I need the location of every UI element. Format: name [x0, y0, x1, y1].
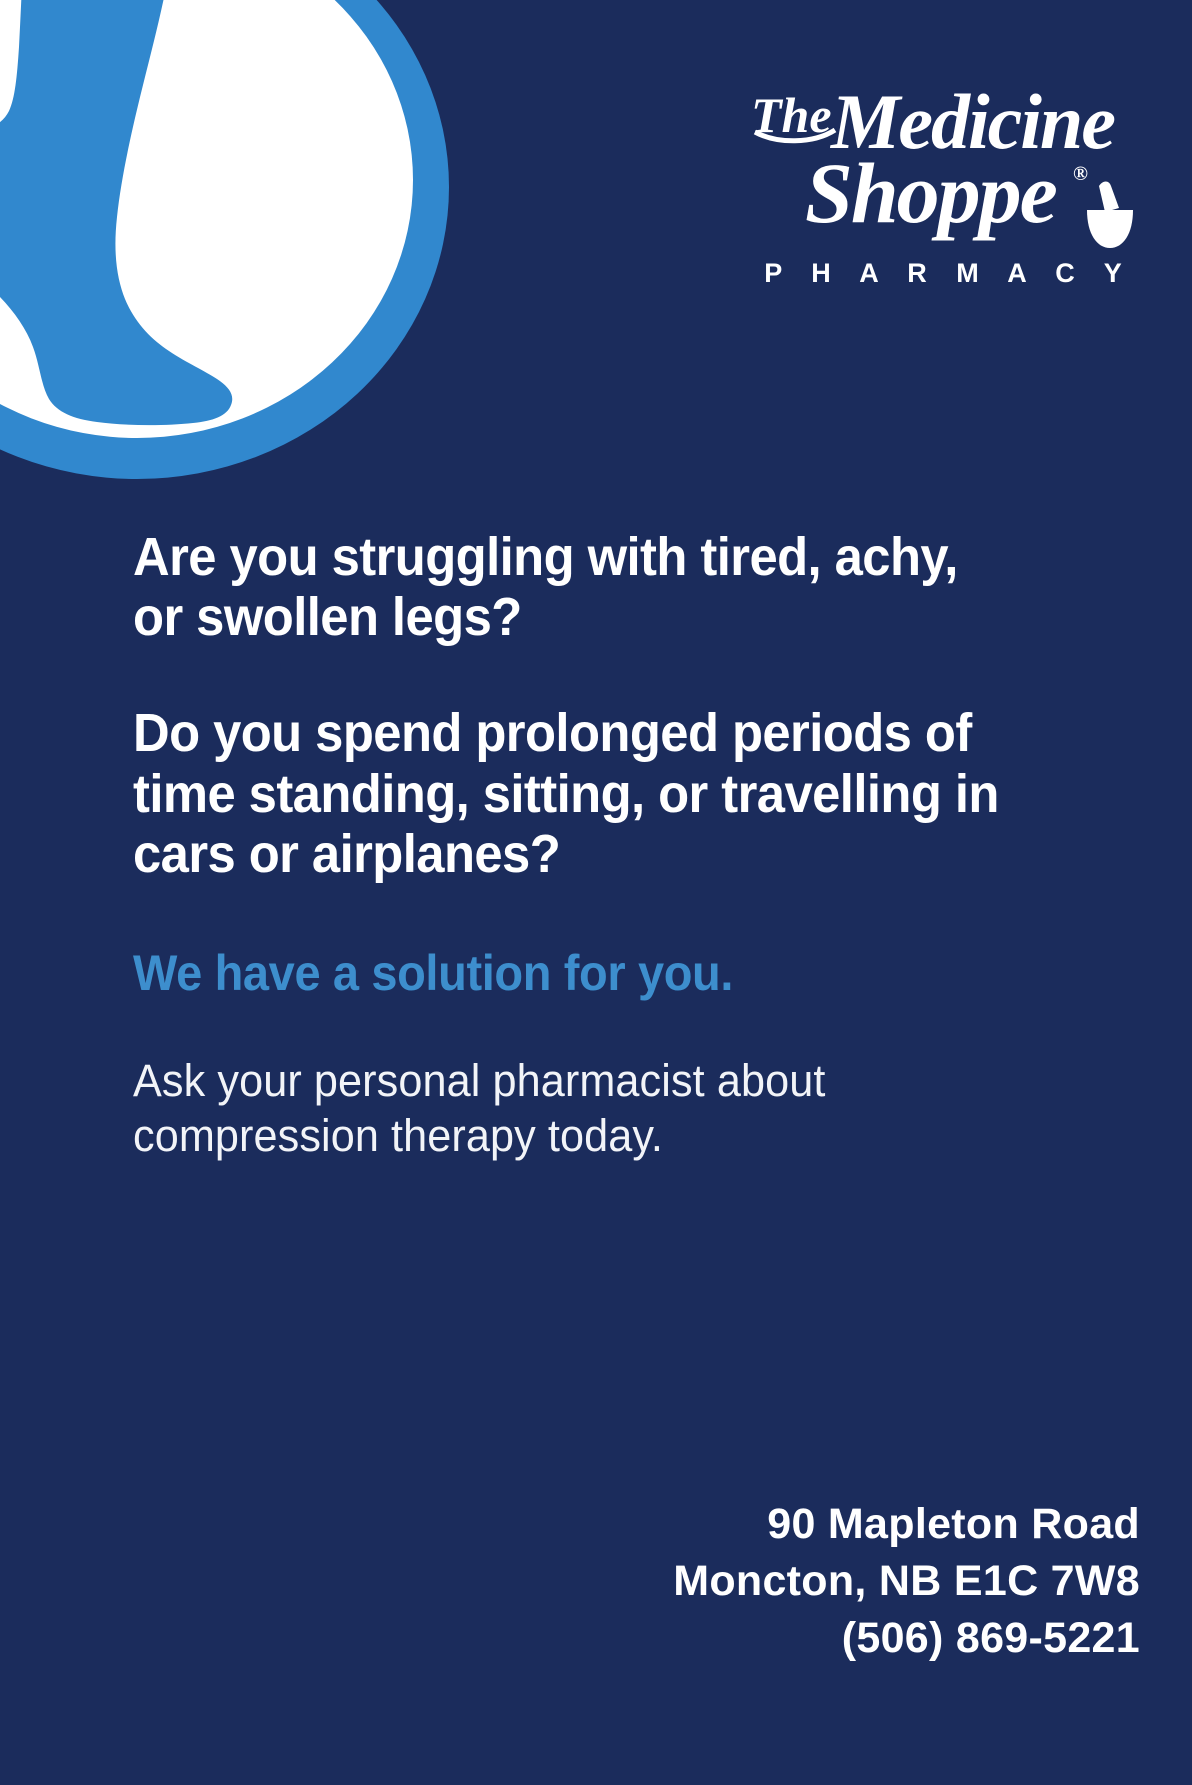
registered-mark-icon: ®: [1073, 163, 1088, 185]
logo-shoppe-word: Shoppe: [805, 145, 1057, 241]
address-city-province-postal: Moncton, NB E1C 7W8: [380, 1553, 1140, 1610]
copy-block: Are you struggling with tired, achy, or …: [133, 527, 1063, 1164]
poster-root: The Medicine Shoppe ® P H A R M A C Y: [0, 0, 1192, 1785]
headline-question-one: Are you struggling with tired, achy, or …: [133, 527, 1007, 647]
headline-question-two: Do you spend prolonged periods of time s…: [133, 703, 1007, 884]
address-block: 90 Mapleton Road Moncton, NB E1C 7W8 (50…: [380, 1496, 1140, 1668]
solution-line: We have a solution for you.: [133, 946, 1007, 1001]
address-phone[interactable]: (506) 869-5221: [380, 1610, 1140, 1667]
logo-pharmacy-word: P H A R M A C Y: [747, 260, 1139, 287]
subcopy-line: Ask your personal pharmacist about compr…: [133, 1053, 1026, 1164]
leg-circle-graphic: [0, 0, 450, 480]
medicine-shoppe-logo: The Medicine Shoppe ® P H A R M A C Y: [747, 82, 1139, 287]
mortar-and-pestle-icon: [1087, 182, 1133, 249]
logo-script-art: The Medicine Shoppe ®: [747, 82, 1139, 254]
address-street: 90 Mapleton Road: [380, 1496, 1140, 1553]
